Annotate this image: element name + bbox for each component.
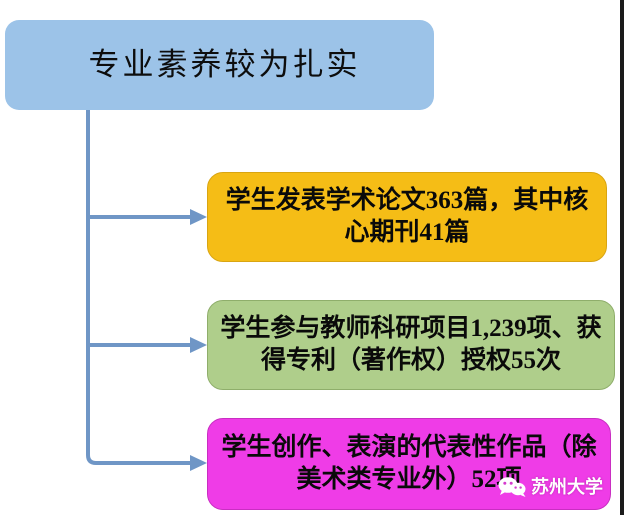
branch-node-papers-label: 学生发表学术论文363篇，其中核心期刊41篇 — [208, 185, 606, 249]
branch-node-papers[interactable]: 学生发表学术论文363篇，其中核心期刊41篇 — [207, 172, 607, 262]
right-edge-strip — [620, 0, 624, 515]
connector-trunk — [88, 110, 190, 463]
branch-node-projects[interactable]: 学生参与教师科研项目1,239项、获得专利（著作权）授权55次 — [207, 300, 615, 390]
arrowhead-works — [190, 455, 207, 471]
branch-node-works[interactable]: 学生创作、表演的代表性作品（除美术类专业外）52项 — [207, 418, 611, 510]
root-node-label: 专业素养较为扎实 — [5, 47, 434, 83]
arrowhead-papers — [190, 209, 207, 225]
diagram-canvas: 专业素养较为扎实 学生发表学术论文363篇，其中核心期刊41篇 学生参与教师科研… — [0, 0, 624, 515]
branch-node-works-label: 学生创作、表演的代表性作品（除美术类专业外）52项 — [208, 432, 610, 496]
root-node[interactable]: 专业素养较为扎实 — [5, 20, 434, 110]
arrowhead-projects — [190, 337, 207, 353]
branch-node-projects-label: 学生参与教师科研项目1,239项、获得专利（著作权）授权55次 — [208, 313, 614, 377]
